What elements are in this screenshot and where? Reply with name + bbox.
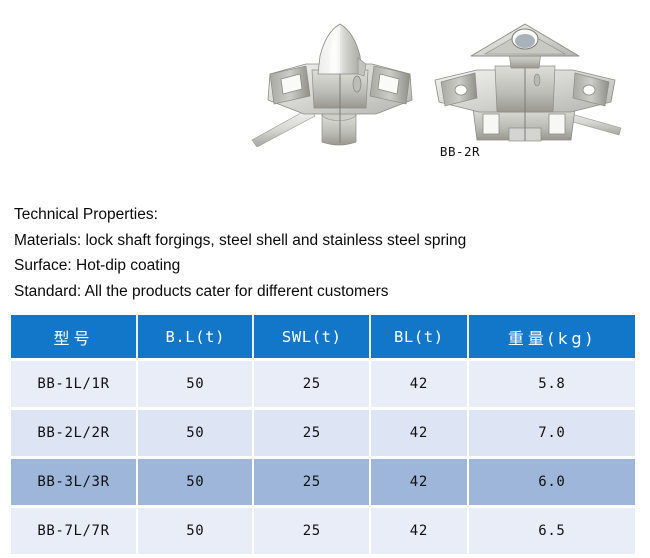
column-header-bl2-t: BL(t) — [371, 315, 469, 361]
column-header-bl-t: B.L(t) — [138, 315, 254, 361]
cell-swl-t: 25 — [254, 508, 370, 554]
cell-swl-t: 25 — [254, 410, 370, 459]
column-header-weight-kg: 重量(kg) — [469, 315, 635, 361]
cell-weight-kg: 6.5 — [469, 508, 635, 554]
cell-weight-kg: 7.0 — [469, 410, 635, 459]
table-row: BB-1L/1R 50 25 42 5.8 — [11, 361, 635, 410]
cell-bl-t: 50 — [138, 508, 254, 554]
table-row: BB-7L/7R 50 25 42 6.5 — [11, 508, 635, 554]
bridge-fitting-front-view-image — [240, 22, 440, 147]
cell-bl-t: 50 — [138, 361, 254, 410]
cell-model: BB-7L/7R — [11, 508, 138, 554]
product-caption: BB-2R — [400, 144, 520, 159]
cell-model: BB-3L/3R — [11, 459, 138, 508]
cell-bl2-t: 42 — [371, 361, 469, 410]
table-row-highlighted: BB-3L/3R 50 25 42 6.0 — [11, 459, 635, 508]
cell-weight-kg: 6.0 — [469, 459, 635, 508]
technical-properties-block: Technical Properties: Materials: lock sh… — [14, 202, 634, 304]
product-image-area: BB-2R — [0, 0, 650, 190]
cell-swl-t: 25 — [254, 361, 370, 410]
column-header-swl-t: SWL(t) — [254, 315, 370, 361]
table-row: BB-2L/2R 50 25 42 7.0 — [11, 410, 635, 459]
cell-model: BB-2L/2R — [11, 410, 138, 459]
cell-weight-kg: 5.8 — [469, 361, 635, 410]
bridge-fitting-side-view-image — [425, 22, 625, 147]
table-header-row: 型号 B.L(t) SWL(t) BL(t) 重量(kg) — [11, 315, 635, 361]
cell-bl2-t: 42 — [371, 508, 469, 554]
technical-standard-line: Standard: All the products cater for dif… — [14, 279, 634, 305]
cell-swl-t: 25 — [254, 459, 370, 508]
cell-bl2-t: 42 — [371, 410, 469, 459]
cell-model: BB-1L/1R — [11, 361, 138, 410]
column-header-model: 型号 — [11, 315, 138, 361]
specification-table: 型号 B.L(t) SWL(t) BL(t) 重量(kg) BB-1L/1R 5… — [11, 315, 635, 554]
cell-bl-t: 50 — [138, 459, 254, 508]
technical-surface-line: Surface: Hot-dip coating — [14, 253, 634, 279]
technical-properties-heading: Technical Properties: — [14, 202, 634, 228]
cell-bl-t: 50 — [138, 410, 254, 459]
technical-materials-line: Materials: lock shaft forgings, steel sh… — [14, 228, 634, 254]
cell-bl2-t: 42 — [371, 459, 469, 508]
